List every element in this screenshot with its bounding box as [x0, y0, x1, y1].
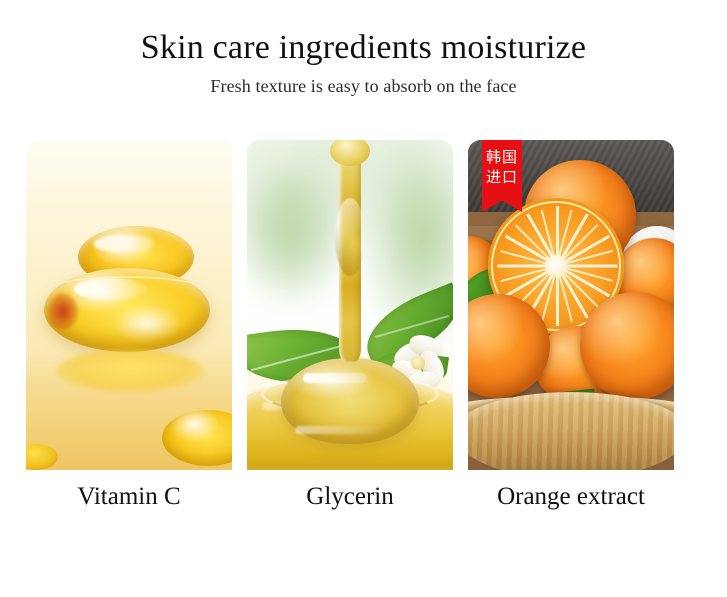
ingredient-card-orange-extract[interactable]: 韩国 进口 [468, 140, 674, 470]
blossom-core [411, 356, 425, 370]
capsule-reflection [56, 350, 204, 392]
import-badge-line2: 进口 [482, 167, 522, 187]
page-header: Skin care ingredients moisturize Fresh t… [0, 0, 727, 97]
ingredient-card-row: 韩国 进口 [26, 140, 674, 470]
page-title: Skin care ingredients moisturize [0, 0, 727, 67]
caption-orange-extract: Orange extract [468, 480, 674, 526]
promo-page: Skin care ingredients moisturize Fresh t… [0, 0, 727, 597]
caption-glycerin: Glycerin [247, 480, 453, 526]
import-badge-line1: 韩国 [482, 147, 522, 167]
caption-vitamin-c: Vitamin C [26, 480, 232, 526]
oil-stream-highlight [335, 198, 365, 276]
ingredient-card-vitamin-c[interactable] [26, 140, 232, 470]
capsule-seam [48, 276, 204, 304]
caption-row: Vitamin C Glycerin Orange extract [26, 480, 674, 526]
oil-droplet-icon [281, 358, 419, 444]
bamboo-basket [468, 392, 674, 470]
page-subtitle: Fresh texture is easy to absorb on the f… [0, 67, 727, 97]
oil-stream-icon [339, 140, 361, 362]
ingredient-card-glycerin[interactable] [247, 140, 453, 470]
